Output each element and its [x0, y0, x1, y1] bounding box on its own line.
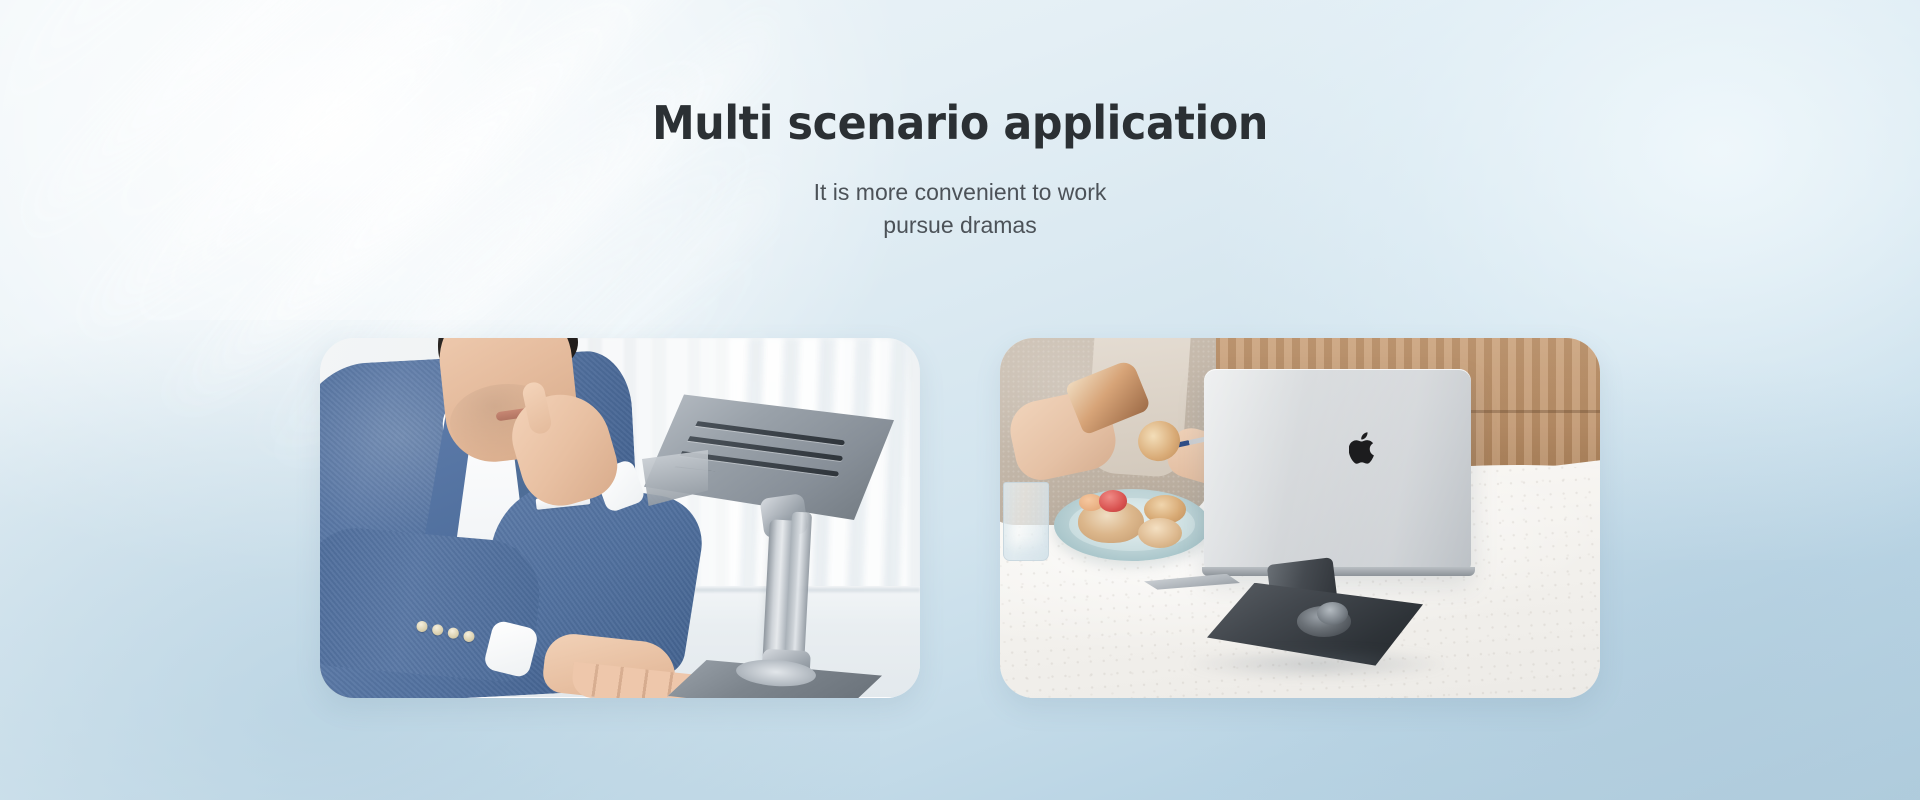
kitchen-scene-photo [1000, 338, 1600, 698]
product-banner: Multi scenario application It is more co… [0, 0, 1920, 800]
scene-card-kitchen [1000, 338, 1600, 698]
subtitle-line-1: It is more convenient to work [0, 176, 1920, 209]
strawberry [1099, 490, 1127, 512]
macbook-lid [1204, 369, 1471, 571]
page-title: Multi scenario application [67, 96, 1853, 150]
page-subtitle: It is more convenient to work pursue dra… [0, 176, 1920, 241]
water-glass [1003, 482, 1049, 561]
stand-shadow [1186, 648, 1450, 680]
apple-logo-icon [1349, 432, 1379, 466]
scene-card-list [0, 338, 1920, 700]
macbook-lid-edge [1202, 567, 1476, 576]
tablet-stand [650, 392, 900, 692]
banner-heading-group: Multi scenario application It is more co… [0, 96, 1920, 242]
office-scene-photo [320, 338, 920, 698]
subtitle-line-2: pursue dramas [0, 209, 1920, 242]
tablet-edge [642, 450, 708, 506]
scene-card-office [320, 338, 920, 698]
